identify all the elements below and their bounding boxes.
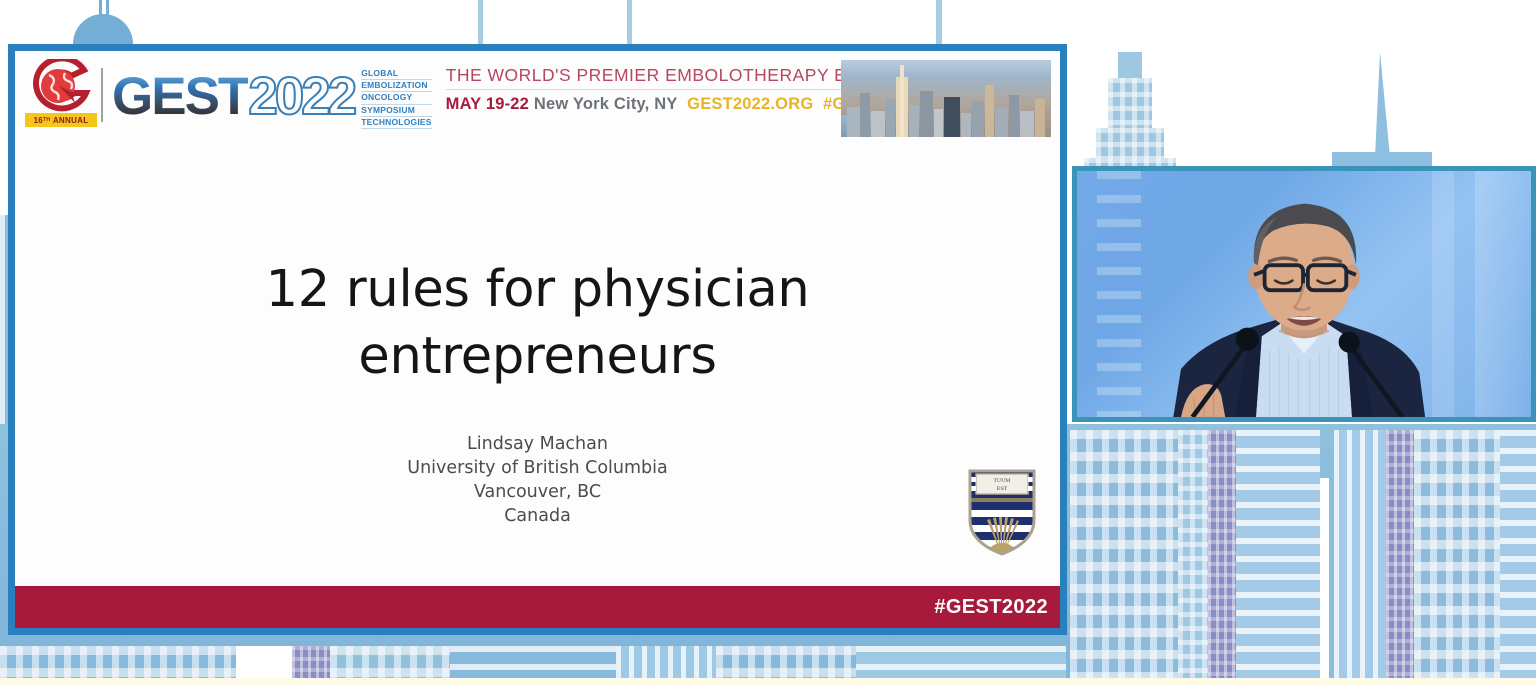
gest-subtitle-line: EMBOLIZATION — [361, 80, 431, 92]
gest-subtitle-line: TECHNOLOGIES — [361, 117, 431, 129]
background-building — [0, 646, 236, 678]
background-mast — [478, 0, 483, 44]
background-building — [450, 646, 616, 678]
author-country: Canada — [15, 505, 1060, 529]
background-antenna — [99, 0, 102, 18]
background-building-purple — [292, 646, 330, 678]
background-building-light — [1320, 478, 1329, 678]
background-building-stepped — [1108, 78, 1152, 130]
globe-icon: 16TH ANNUAL — [25, 57, 95, 133]
background-building-light — [236, 646, 292, 678]
gest-year: 2022 — [248, 68, 354, 123]
gest-subtitle-line: ONCOLOGY — [361, 92, 431, 104]
ubc-crest-icon: TUUM EST — [966, 468, 1038, 556]
slide-title-line: 12 rules for physician — [15, 257, 1060, 324]
author-name: Lindsay Machan — [15, 433, 1060, 457]
background-building — [1414, 430, 1500, 678]
gest-wordmark: GEST — [112, 68, 248, 123]
slide-footer: #GEST2022 — [15, 586, 1060, 628]
presentation-slide: 16TH ANNUAL GEST 2022 GLOBAL EMBOLIZATIO… — [8, 44, 1067, 635]
event-dates: MAY 19-22 — [446, 95, 529, 113]
background-mast — [936, 0, 942, 44]
background-building-purple — [1386, 430, 1414, 678]
background-building — [1178, 430, 1208, 678]
author-city: Vancouver, BC — [15, 481, 1060, 505]
gest-logo: 16TH ANNUAL GEST 2022 GLOBAL EMBOLIZATIO… — [15, 51, 432, 133]
background-building — [1334, 430, 1386, 678]
speaker-figure — [1077, 171, 1531, 417]
background-building — [1236, 430, 1320, 678]
nyc-skyline-photo — [841, 60, 1051, 137]
slide-footer-hashtag: #GEST2022 — [934, 596, 1060, 619]
background-building — [716, 646, 856, 678]
slide-title: 12 rules for physician entrepreneurs — [15, 257, 1060, 391]
background-dome-building — [73, 14, 133, 48]
slide-title-line: entrepreneurs — [15, 324, 1060, 391]
background-building — [856, 646, 1066, 678]
slide-header: 16TH ANNUAL GEST 2022 GLOBAL EMBOLIZATIO… — [15, 51, 1060, 136]
background-building — [1070, 430, 1178, 678]
background-spire — [1375, 52, 1390, 157]
speaker-video[interactable] — [1072, 166, 1536, 422]
background-mast — [627, 0, 632, 44]
annual-badge: 16TH ANNUAL — [25, 113, 97, 127]
gest-subtitle-line: GLOBAL — [361, 68, 431, 80]
background-building — [616, 646, 716, 678]
background-building-purple — [1208, 430, 1236, 678]
gest-subtitle: GLOBAL EMBOLIZATION ONCOLOGY SYMPOSIUM T… — [361, 61, 431, 129]
background-building — [1500, 430, 1536, 678]
svg-text:EST: EST — [997, 486, 1008, 492]
svg-text:TUUM: TUUM — [994, 478, 1011, 484]
background-bottom-strip — [0, 678, 1536, 685]
event-city: New York City, NY — [534, 95, 678, 113]
event-website: GEST2022.ORG — [687, 95, 813, 113]
author-affiliation: University of British Columbia — [15, 457, 1060, 481]
background-building — [330, 646, 450, 678]
gest-subtitle-line: SYMPOSIUM — [361, 105, 431, 117]
logo-divider — [101, 68, 103, 122]
slide-author-block: Lindsay Machan University of British Col… — [15, 433, 1060, 529]
background-antenna — [106, 0, 109, 18]
